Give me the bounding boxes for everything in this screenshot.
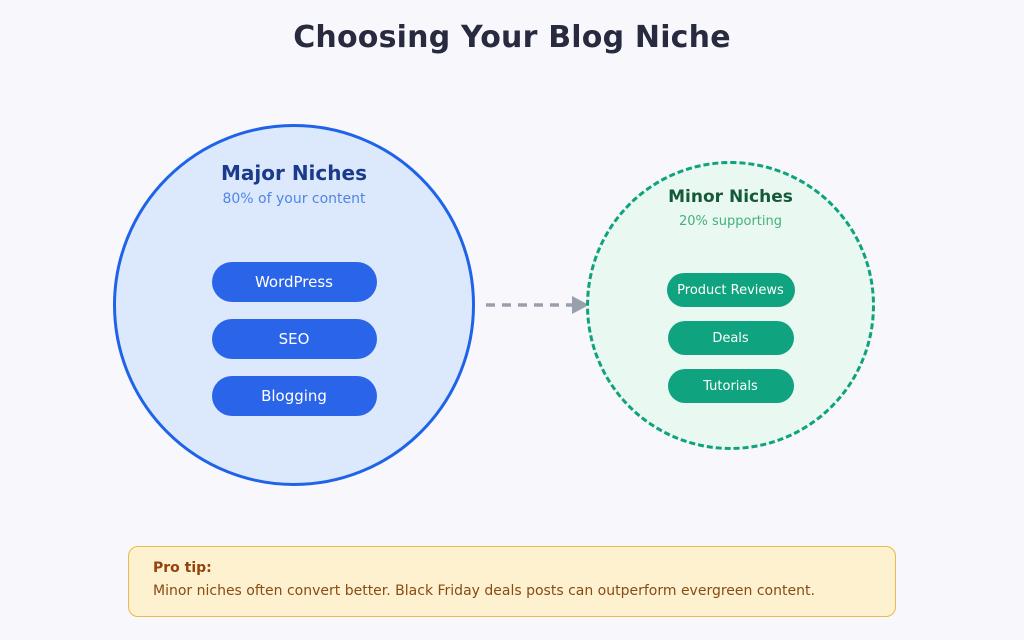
- pro-tip-text: Minor niches often convert better. Black…: [153, 580, 873, 602]
- minor-niche-pill-deals[interactable]: Deals: [668, 321, 794, 355]
- minor-niche-pill-tutorials[interactable]: Tutorials: [668, 369, 794, 403]
- dashed-arrow-right-icon: [484, 290, 594, 320]
- pro-tip-label: Pro tip:: [153, 558, 873, 578]
- major-niche-pill-blogging[interactable]: Blogging: [212, 376, 377, 416]
- major-niche-pill-seo[interactable]: SEO: [212, 319, 377, 359]
- diagram-canvas: Choosing Your Blog Niche Major Niches 80…: [0, 0, 1024, 640]
- minor-niches-heading: Minor Niches: [589, 187, 872, 207]
- major-niches-heading: Major Niches: [116, 161, 472, 185]
- minor-niche-pill-product-reviews[interactable]: Product Reviews: [667, 273, 795, 307]
- minor-niches-circle[interactable]: Minor Niches 20% supporting Product Revi…: [586, 161, 875, 450]
- minor-niches-pill-list: Product Reviews Deals Tutorials: [589, 273, 872, 403]
- major-niches-pill-list: WordPress SEO Blogging: [116, 262, 472, 416]
- major-niches-circle[interactable]: Major Niches 80% of your content WordPre…: [113, 124, 475, 486]
- major-niche-pill-wordpress[interactable]: WordPress: [212, 262, 377, 302]
- pro-tip-callout: Pro tip: Minor niches often convert bett…: [128, 546, 896, 617]
- major-niches-subtitle: 80% of your content: [116, 191, 472, 207]
- page-title: Choosing Your Blog Niche: [0, 20, 1024, 55]
- minor-niches-subtitle: 20% supporting: [589, 214, 872, 229]
